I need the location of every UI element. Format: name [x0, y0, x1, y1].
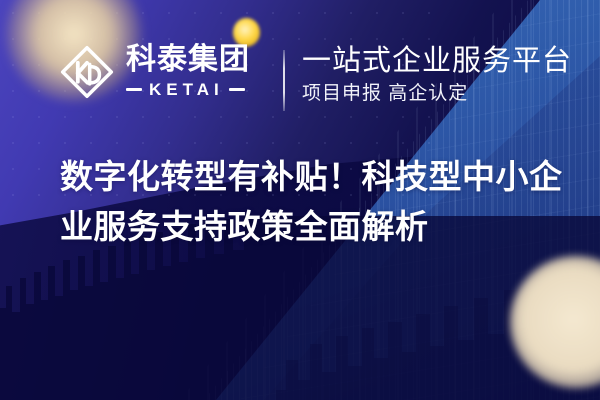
tagline-main: 一站式企业服务平台 [302, 44, 572, 78]
dash-left-icon [126, 88, 142, 91]
banner-content: 科泰集团 KETAI 一站式企业服务平台 项目申报 高企认定 数字化转型有补贴！… [0, 0, 600, 400]
vertical-divider [283, 50, 285, 111]
brand-logo[interactable]: 科泰集团 KETAI [60, 44, 250, 100]
brand-name-en: KETAI [149, 80, 224, 100]
promo-banner: 科泰集团 KETAI 一站式企业服务平台 项目申报 高企认定 数字化转型有补贴！… [0, 0, 600, 400]
brand-logo-text: 科泰集团 KETAI [126, 44, 250, 100]
brand-name-cn: 科泰集团 [126, 44, 250, 76]
brand-name-en-row: KETAI [126, 80, 250, 100]
headline-title: 数字化转型有补贴！科技型中小企业服务支持政策全面解析 [60, 152, 572, 252]
tagline: 一站式企业服务平台 项目申报 高企认定 [302, 44, 572, 107]
dash-right-icon [229, 88, 245, 91]
ketai-kd-monogram-icon [60, 45, 114, 99]
tagline-sub: 项目申报 高企认定 [302, 82, 572, 107]
